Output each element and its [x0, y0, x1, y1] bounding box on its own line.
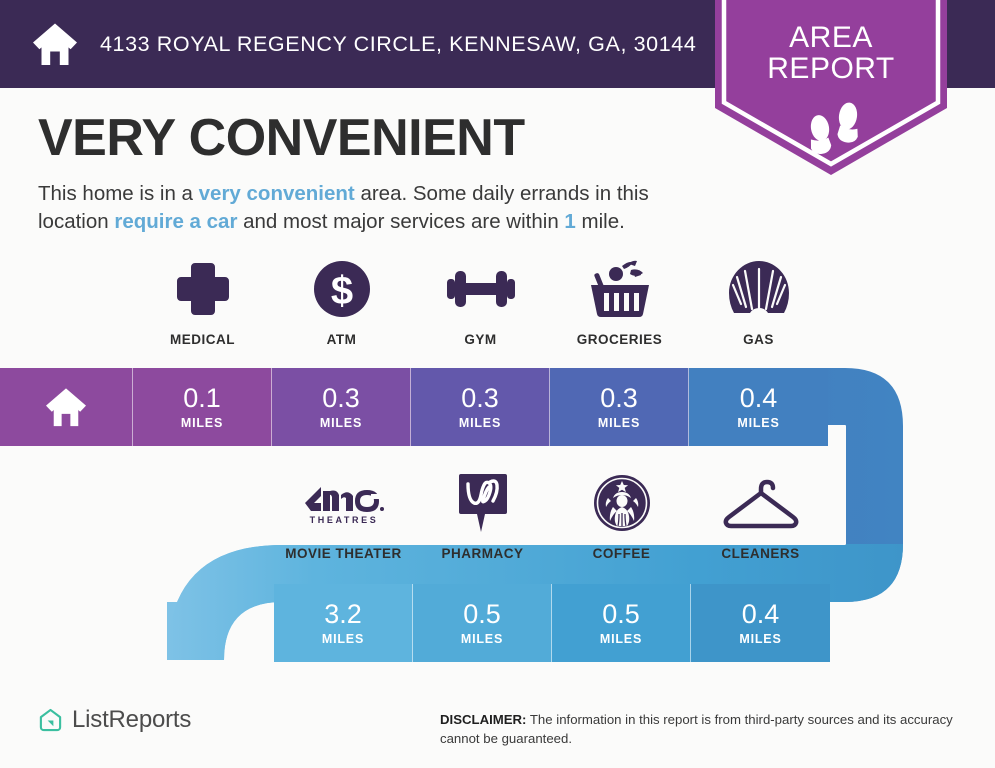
- distance-value: 0.3: [600, 385, 638, 412]
- distance-unit: MILES: [600, 632, 642, 646]
- walgreens-w-icon: [457, 472, 509, 534]
- distance-cell-cleaners: 0.4 MILES: [691, 584, 830, 662]
- svg-text:$: $: [330, 269, 352, 313]
- service-coffee: COFFEE: [552, 472, 691, 561]
- disclaimer-label: DISCLAIMER:: [440, 712, 526, 727]
- service-label: COFFEE: [593, 546, 651, 561]
- disclaimer: DISCLAIMER: The information in this repo…: [440, 711, 990, 748]
- clothes-hanger-icon: [723, 472, 799, 534]
- icon-row-secondary: THEATRES MOVIE THEATER PHARMACY: [274, 472, 830, 561]
- distance-unit: MILES: [459, 416, 501, 430]
- distance-row-primary: 0.1 MILES 0.3 MILES 0.3 MILES 0.3 MILES …: [0, 368, 828, 446]
- subtitle-part-3: and most major services are within: [237, 210, 564, 233]
- distance-value: 0.3: [322, 385, 360, 412]
- distance-cell-groceries: 0.3 MILES: [550, 368, 689, 446]
- service-label: CLEANERS: [721, 546, 799, 561]
- distance-cell-atm: 0.3 MILES: [272, 368, 411, 446]
- distance-unit: MILES: [322, 632, 364, 646]
- amc-theatres-icon: THEATRES: [301, 472, 387, 534]
- service-movie-theater: THEATRES MOVIE THEATER: [274, 472, 413, 561]
- page-subtitle: This home is in a very convenient area. …: [38, 180, 718, 237]
- listreports-logo-icon: [38, 708, 63, 733]
- distance-cell-coffee: 0.5 MILES: [552, 584, 691, 662]
- starbucks-icon: [593, 472, 651, 534]
- listreports-logo: ListReports: [38, 706, 191, 734]
- service-pharmacy: PHARMACY: [413, 472, 552, 561]
- subtitle-highlight-1: very convenient: [199, 182, 355, 205]
- distance-unit: MILES: [461, 632, 503, 646]
- distance-value: 0.5: [463, 601, 501, 628]
- distance-cell-medical: 0.1 MILES: [133, 368, 272, 446]
- header-content: 4133 ROYAL REGENCY CIRCLE, KENNESAW, GA,…: [32, 0, 696, 88]
- service-groceries: GROCERIES: [550, 258, 689, 347]
- service-label: GROCERIES: [577, 332, 663, 347]
- service-atm: $ ATM: [272, 258, 411, 347]
- service-label: MOVIE THEATER: [285, 546, 402, 561]
- grocery-basket-icon: [588, 258, 652, 320]
- home-icon: [43, 387, 89, 427]
- badge-line-2: REPORT: [715, 53, 947, 84]
- distance-value: 0.4: [742, 601, 780, 628]
- service-medical: MEDICAL: [133, 258, 272, 347]
- svg-text:THEATRES: THEATRES: [309, 515, 378, 525]
- service-label: PHARMACY: [441, 546, 523, 561]
- icon-row-primary: MEDICAL $ ATM GYM: [133, 258, 828, 347]
- shell-gas-icon: [728, 258, 790, 320]
- distance-cell-gym: 0.3 MILES: [411, 368, 550, 446]
- distance-cell-movie-theater: 3.2 MILES: [274, 584, 413, 662]
- distance-value: 0.3: [461, 385, 499, 412]
- distance-unit: MILES: [320, 416, 362, 430]
- distance-value: 3.2: [324, 601, 362, 628]
- service-label: GAS: [743, 332, 774, 347]
- property-address: 4133 ROYAL REGENCY CIRCLE, KENNESAW, GA,…: [100, 32, 696, 57]
- distance-cell-pharmacy: 0.5 MILES: [413, 584, 552, 662]
- area-report-infographic: 4133 ROYAL REGENCY CIRCLE, KENNESAW, GA,…: [0, 0, 995, 768]
- subtitle-highlight-2: require a car: [114, 210, 237, 233]
- dumbbell-icon: [445, 258, 517, 320]
- area-report-badge: AREA REPORT: [715, 0, 947, 175]
- distance-unit: MILES: [739, 632, 781, 646]
- distance-cell-gas: 0.4 MILES: [689, 368, 828, 446]
- service-gym: GYM: [411, 258, 550, 347]
- service-gas: GAS: [689, 258, 828, 347]
- distance-unit: MILES: [737, 416, 779, 430]
- distance-unit: MILES: [598, 416, 640, 430]
- service-cleaners: CLEANERS: [691, 472, 830, 561]
- distance-unit: MILES: [181, 416, 223, 430]
- home-marker-cell: [0, 368, 133, 446]
- distance-value: 0.5: [602, 601, 640, 628]
- distance-row-secondary: 3.2 MILES 0.5 MILES 0.5 MILES 0.4 MILES: [274, 584, 830, 662]
- atm-dollar-icon: $: [312, 258, 372, 320]
- distance-value: 0.4: [740, 385, 778, 412]
- service-label: GYM: [464, 332, 496, 347]
- home-icon: [32, 22, 78, 66]
- subtitle-distance-number: 1: [564, 210, 575, 233]
- distance-value: 0.1: [183, 385, 221, 412]
- badge-line-1: AREA: [789, 21, 873, 54]
- badge-label: AREA REPORT: [715, 22, 947, 84]
- subtitle-part-1: This home is in a: [38, 182, 199, 205]
- service-label: ATM: [327, 332, 357, 347]
- service-label: MEDICAL: [170, 332, 235, 347]
- medical-cross-icon: [173, 258, 233, 320]
- subtitle-part-4: mile.: [576, 210, 625, 233]
- listreports-logo-text: ListReports: [72, 706, 191, 734]
- page-title: VERY CONVENIENT: [38, 112, 525, 164]
